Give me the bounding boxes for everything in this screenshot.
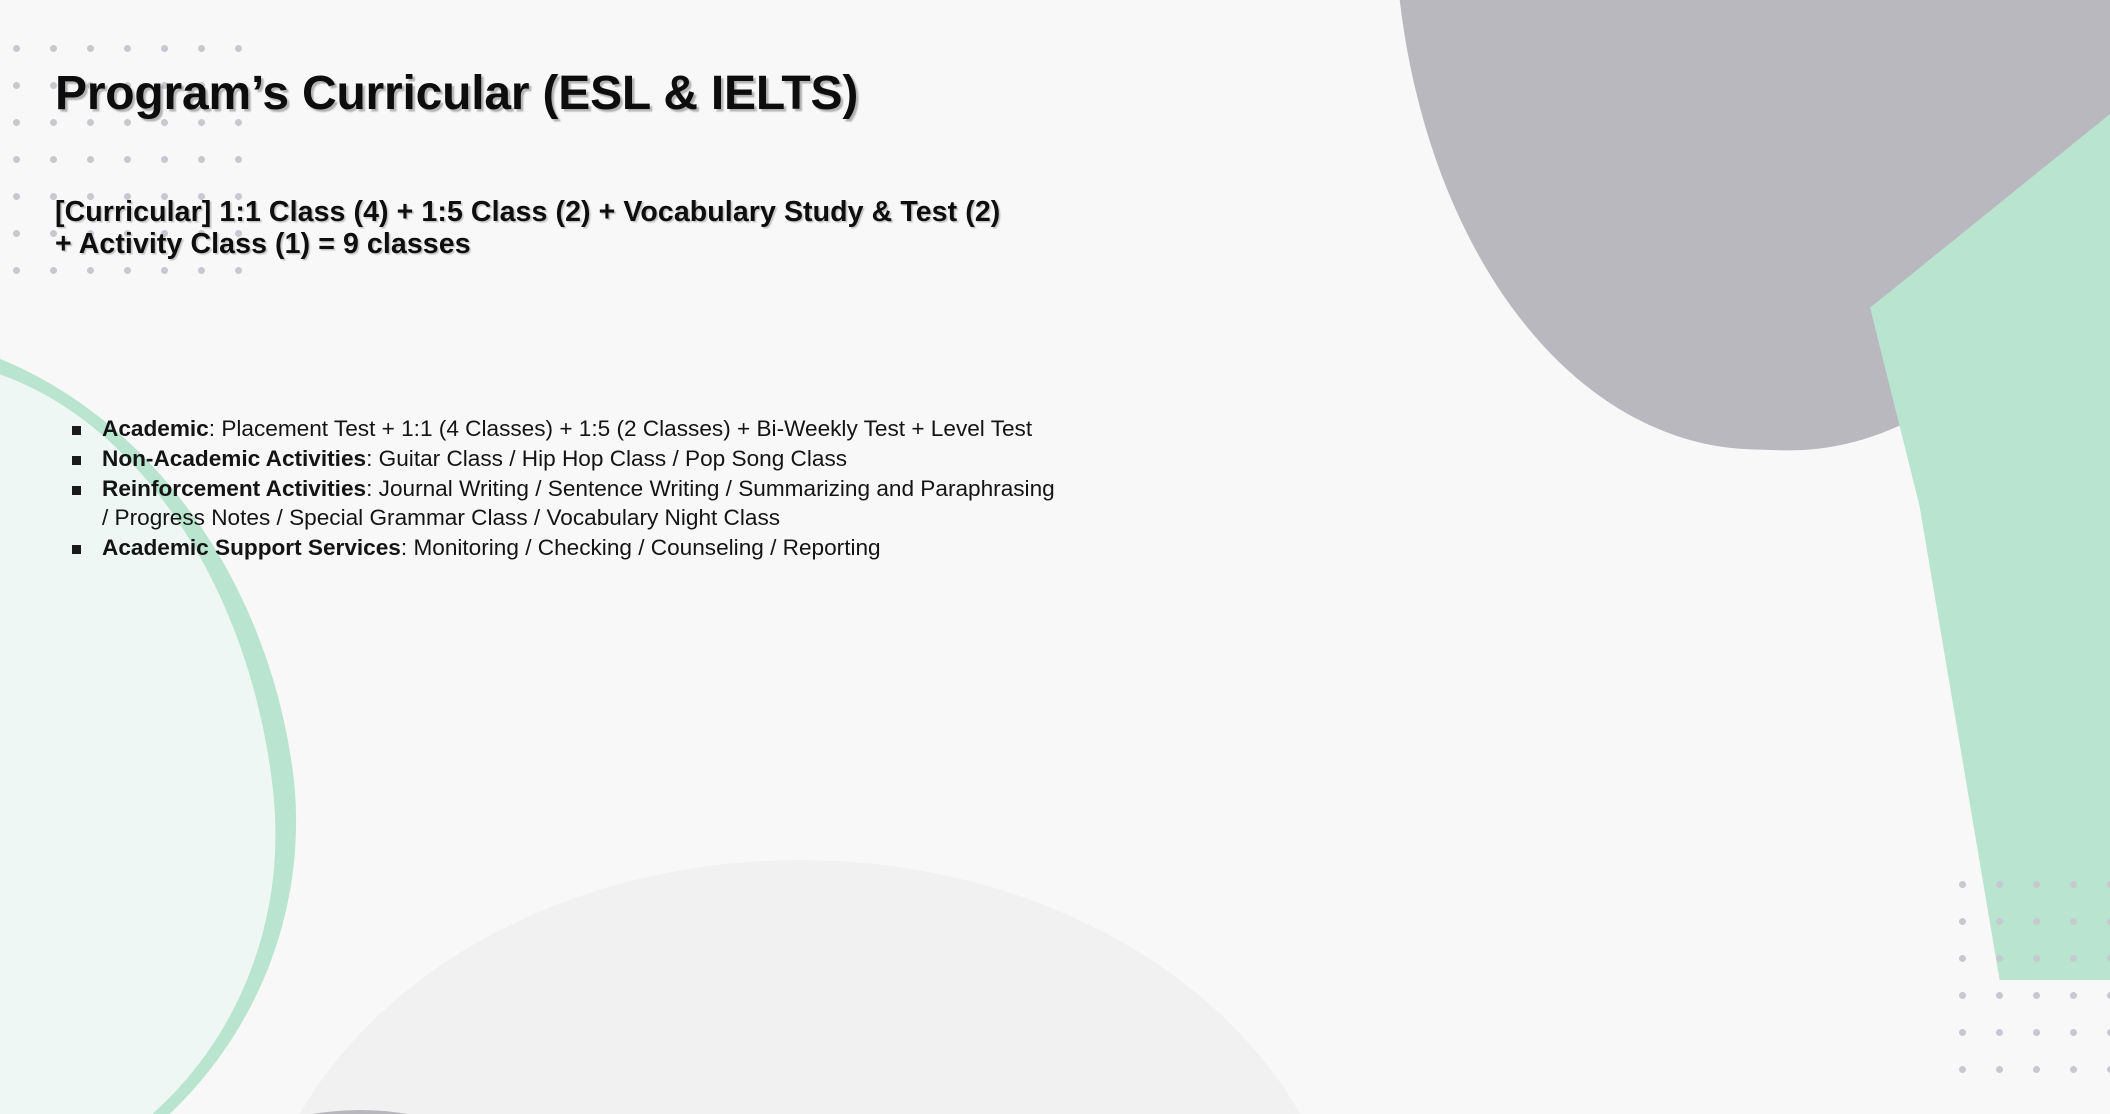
content-column: Program’s Curricular (ESL & IELTS) [Curr… (0, 0, 1110, 1114)
list-item-text: Reinforcement Activities: Journal Writin… (102, 474, 1062, 532)
list-item-separator: : (401, 535, 414, 560)
bullet-list: Academic: Placement Test + 1:1 (4 Classe… (72, 414, 1062, 563)
list-item-body: Monitoring / Checking / Counseling / Rep… (413, 535, 880, 560)
square-bullet-icon (72, 474, 102, 498)
list-item-body: Guitar Class / Hip Hop Class / Pop Song … (379, 446, 847, 471)
list-item-heading: Academic (102, 416, 209, 441)
page-title: Program’s Curricular (ESL & IELTS) (55, 66, 858, 121)
curricular-summary: [Curricular] 1:1 Class (4) + 1:5 Class (… (55, 196, 1015, 261)
activities-panel: ENFORCEMENT ACTIVITIES (1110, 0, 2110, 1114)
list-item-text: Academic: Placement Test + 1:1 (4 Classe… (102, 414, 1062, 443)
slide-canvas: Program’s Curricular (ESL & IELTS) [Curr… (0, 0, 2110, 1114)
list-item-separator: : (366, 476, 379, 501)
list-item-text: Non-Academic Activities: Guitar Class / … (102, 444, 1062, 473)
list-item-heading: Reinforcement Activities (102, 476, 366, 501)
list-item: Non-Academic Activities: Guitar Class / … (72, 444, 1062, 473)
list-item-body: Placement Test + 1:1 (4 Classes) + 1:5 (… (221, 416, 1032, 441)
list-item-heading: Non-Academic Activities (102, 446, 366, 471)
square-bullet-icon (72, 444, 102, 468)
square-bullet-icon (72, 414, 102, 438)
list-item-text: Academic Support Services: Monitoring / … (102, 533, 1062, 562)
list-item-separator: : (366, 446, 379, 471)
square-bullet-icon (72, 533, 102, 557)
list-item: Academic: Placement Test + 1:1 (4 Classe… (72, 414, 1062, 443)
list-item: Academic Support Services: Monitoring / … (72, 533, 1062, 562)
list-item-heading: Academic Support Services (102, 535, 401, 560)
list-item-separator: : (209, 416, 222, 441)
list-item: Reinforcement Activities: Journal Writin… (72, 474, 1062, 532)
